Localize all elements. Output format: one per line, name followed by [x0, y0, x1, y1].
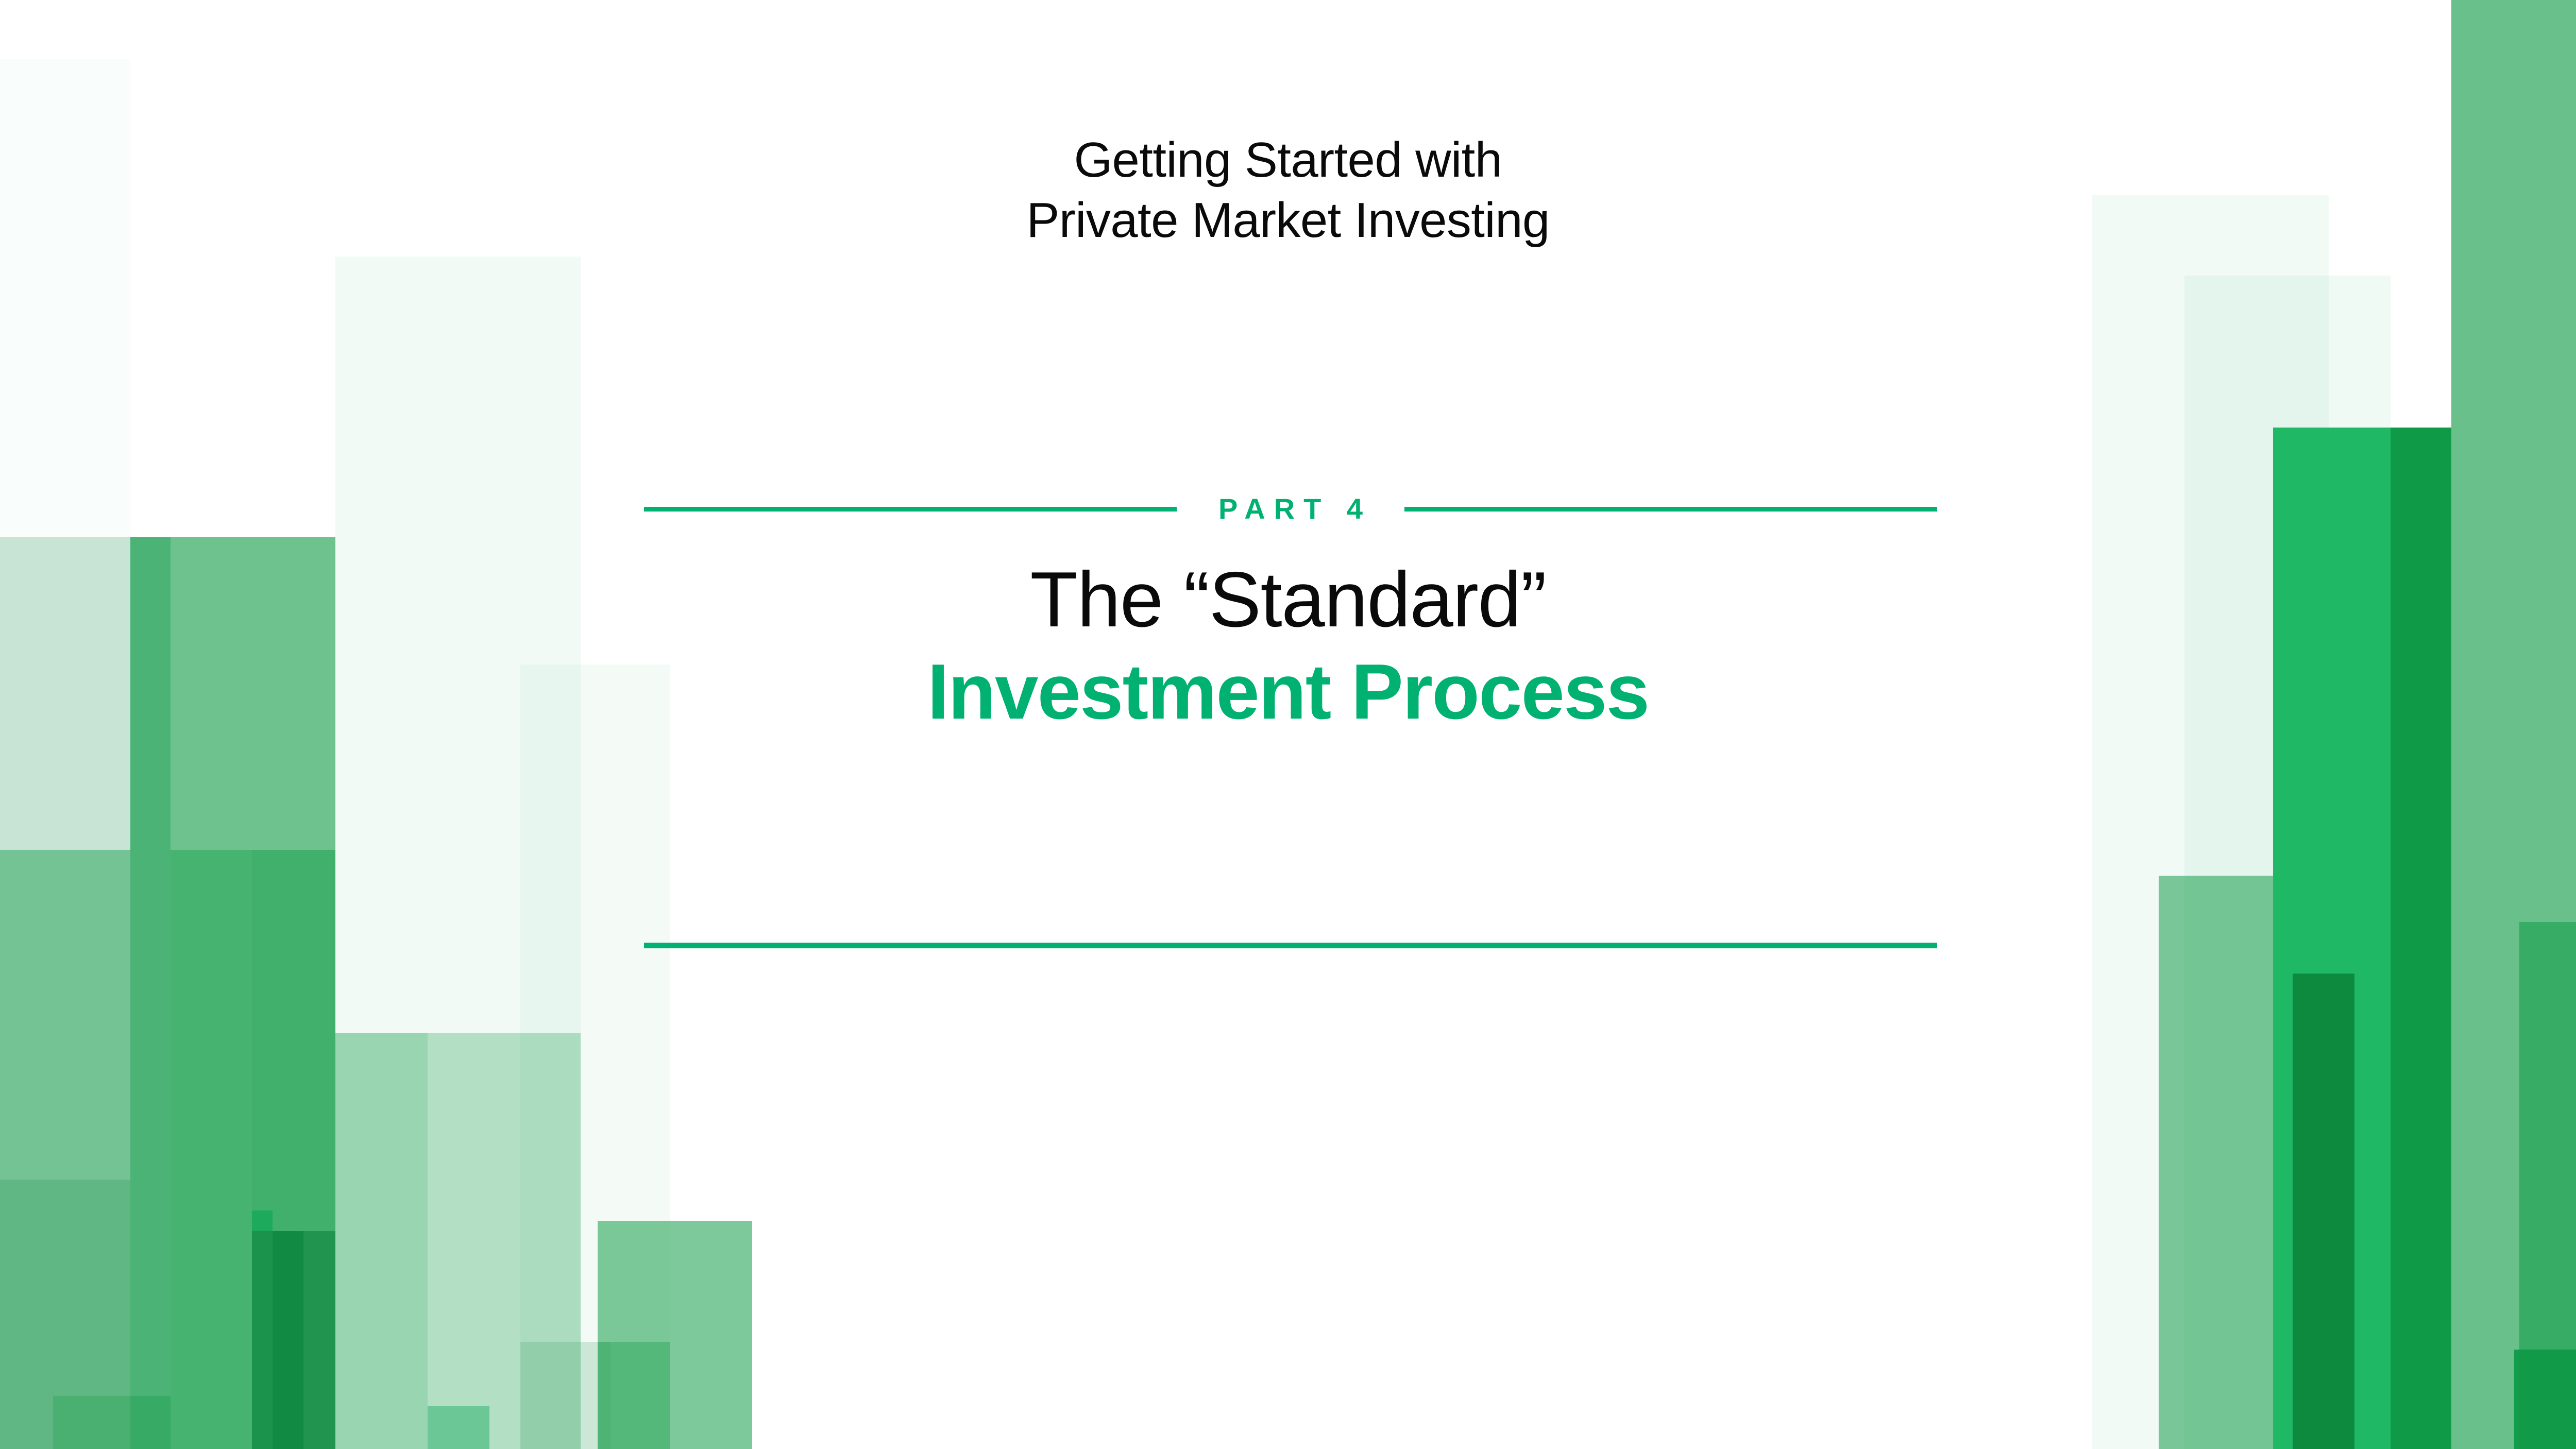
decorative-bar [2184, 276, 2391, 1449]
part-label: PART 4 [1177, 495, 1404, 523]
decorative-bar [335, 257, 428, 1449]
subtitle-line-2: Private Market Investing [0, 190, 2576, 250]
part-divider: PART 4 [644, 484, 1937, 534]
decorative-bar [428, 1033, 581, 1449]
decorative-bar [2092, 195, 2329, 1449]
decorative-bar [428, 1406, 489, 1449]
decorative-bar [598, 1342, 670, 1449]
decorative-bar [0, 850, 130, 1449]
subtitle-line-1: Getting Started with [0, 130, 2576, 190]
bottom-rule [644, 943, 1937, 948]
decorative-bar [252, 850, 335, 1449]
decorative-bar [2519, 922, 2576, 1449]
decorative-bar [130, 1396, 171, 1449]
decorative-bar [273, 1231, 303, 1449]
decorative-bar [2514, 1350, 2576, 1449]
headline-line-1: The “Standard” [1030, 556, 1546, 643]
decorative-bar [520, 1342, 611, 1449]
decorative-bar [0, 1180, 130, 1449]
decorative-bar [53, 1396, 130, 1449]
page-title: The “Standard” Investment Process [0, 554, 2576, 739]
slide-canvas: Getting Started with Private Market Inve… [0, 0, 2576, 1449]
decorative-bar [0, 59, 130, 1449]
headline-line-2: Investment Process [0, 646, 2576, 738]
decorative-bar [335, 1033, 428, 1449]
decorative-bar [252, 1211, 273, 1449]
subtitle: Getting Started with Private Market Inve… [0, 130, 2576, 250]
decorative-bar [598, 1221, 752, 1449]
part-rule-left [644, 507, 1177, 512]
decorative-bar [2159, 876, 2293, 1449]
part-rule-right [1404, 507, 1937, 512]
decorative-bar [520, 664, 670, 1449]
decorative-bar [171, 850, 252, 1449]
decorative-bar [428, 257, 581, 1449]
decorative-bar [252, 1231, 335, 1449]
decorative-bar [2293, 974, 2354, 1449]
